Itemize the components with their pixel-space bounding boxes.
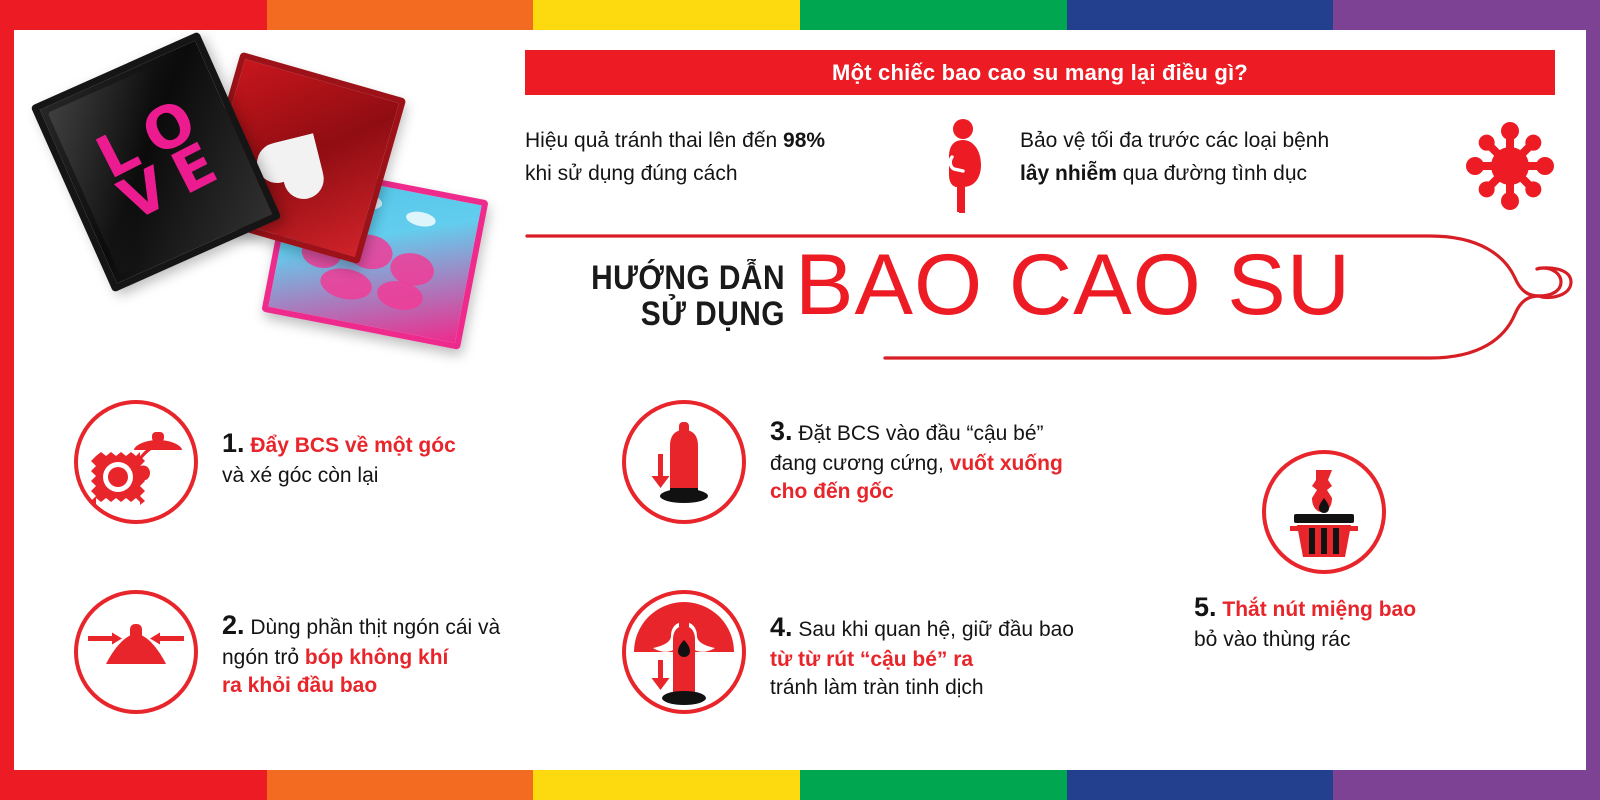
step-5-number: 5. [1194,592,1217,622]
benefit-1-line1-pre: Hiệu quả tránh thai lên đến [525,129,783,152]
pregnant-woman-icon [933,117,993,217]
step-3: 3. Đặt BCS vào đầu “cậu bé” đang cương c… [622,400,1150,524]
step-2-icon-circle [74,590,198,714]
infographic-page: L OV E Một chiếc bao cao su mang lại điề… [0,0,1600,800]
step-3-highlight-1: vuốt xuống [950,452,1063,475]
pinch-tip-icon [78,594,194,710]
step-4-highlight: từ từ rút “cậu bé” ra [770,648,973,671]
benefit-1-percent: 98% [783,129,825,152]
rainbow-stripe-top [0,0,1600,30]
step-3-highlight-2: cho đến gốc [770,480,894,503]
step-5-text: 5. Thắt nút miệng bao bỏ vào thùng rác [1194,590,1534,654]
right-purple-band [1586,0,1600,800]
step-5-line2: bỏ vào thùng rác [1194,628,1350,651]
step-4-icon-circle [622,590,746,714]
step-4: 4. Sau khi quan hệ, giữ đầu bao từ từ rú… [622,590,1170,714]
step-2-text: 2. Dùng phần thịt ngón cái và ngón trỏ b… [222,608,582,700]
stripe-green [800,770,1067,800]
knotted-condom-trash-icon [1266,454,1382,570]
step-3-number: 3. [770,416,793,446]
step-2-line2-pre: ngón trỏ [222,646,305,669]
virus-icon [1465,121,1555,211]
header-question-bar: Một chiếc bao cao su mang lại điều gì? [525,50,1555,95]
benefit-sti-protection: Bảo vệ tối đa trước các loại bệnh lây nh… [1020,125,1440,190]
step-2-number: 2. [222,610,245,640]
step-1-text: 1. Đẩy BCS về một góc và xé góc còn lại [222,426,552,490]
benefit-2-line1: Bảo vệ tối đa trước các loại bệnh [1020,129,1329,152]
step-5: 5. Thắt nút miệng bao bỏ vào thùng rác [1194,450,1554,654]
step-4-line1: Sau khi quan hệ, giữ đầu bao [798,618,1074,641]
condom-packets-photo: L OV E [54,50,474,340]
stripe-green [800,0,1067,30]
stripe-red [0,0,267,30]
withdraw-condom-icon [626,594,742,710]
condom-packet-tear-icon [78,404,194,520]
title-line-1: HƯỚNG DẪN [591,259,785,297]
step-1-rest: và xé góc còn lại [222,464,378,487]
stripe-purple [1333,0,1600,30]
benefits-row: Hiệu quả tránh thai lên đến 98% khi sử d… [525,115,1555,225]
title-line-2: SỬ DỤNG [641,295,785,333]
main-title-zone: HƯỚNG DẪN SỬ DỤNG BAO CAO SU [525,230,1575,370]
step-5-highlight: Thắt nút miệng bao [1222,598,1416,621]
stripe-red [0,770,267,800]
step-2-highlight-1: bóp không khí [305,646,448,669]
stripe-yellow [533,770,800,800]
step-3-line2-pre: đang cương cứng, [770,452,950,475]
step-2-line1: Dùng phần thịt ngón cái và [250,616,500,639]
step-1: 1. Đẩy BCS về một góc và xé góc còn lại [74,400,552,524]
step-1-icon-circle [74,400,198,524]
step-1-number: 1. [222,428,245,458]
step-1-highlight: Đẩy BCS về một góc [250,434,455,457]
step-2: 2. Dùng phần thịt ngón cái và ngón trỏ b… [74,590,582,714]
page-title-main: BAO CAO SU [795,242,1351,328]
step-4-text: 4. Sau khi quan hệ, giữ đầu bao từ từ rú… [770,610,1170,702]
step-4-number: 4. [770,612,793,642]
step-3-text: 3. Đặt BCS vào đầu “cậu bé” đang cương c… [770,414,1150,506]
stripe-orange [267,770,534,800]
stripe-purple [1333,770,1600,800]
step-3-line1: Đặt BCS vào đầu “cậu bé” [798,422,1043,445]
benefit-contraception: Hiệu quả tránh thai lên đến 98% khi sử d… [525,125,915,190]
stripe-blue [1067,770,1334,800]
rolled-condom-down-arrow-icon [626,404,742,520]
content-canvas: L OV E Một chiếc bao cao su mang lại điề… [14,30,1586,770]
step-5-icon-circle [1262,450,1386,574]
benefit-1-line2: khi sử dụng đúng cách [525,162,738,185]
benefit-2-line2-post: qua đường tình dục [1117,162,1307,185]
step-2-highlight-2: ra khỏi đầu bao [222,674,377,697]
step-3-icon-circle [622,400,746,524]
rainbow-stripe-bottom [0,770,1600,800]
page-title-small: HƯỚNG DẪN SỬ DỤNG [565,260,785,332]
stripe-blue [1067,0,1334,30]
stripe-yellow [533,0,800,30]
stripe-orange [267,0,534,30]
left-red-band [0,0,14,800]
benefit-2-bold: lây nhiễm [1020,162,1117,185]
step-4-line3: tránh làm tràn tinh dịch [770,676,984,699]
